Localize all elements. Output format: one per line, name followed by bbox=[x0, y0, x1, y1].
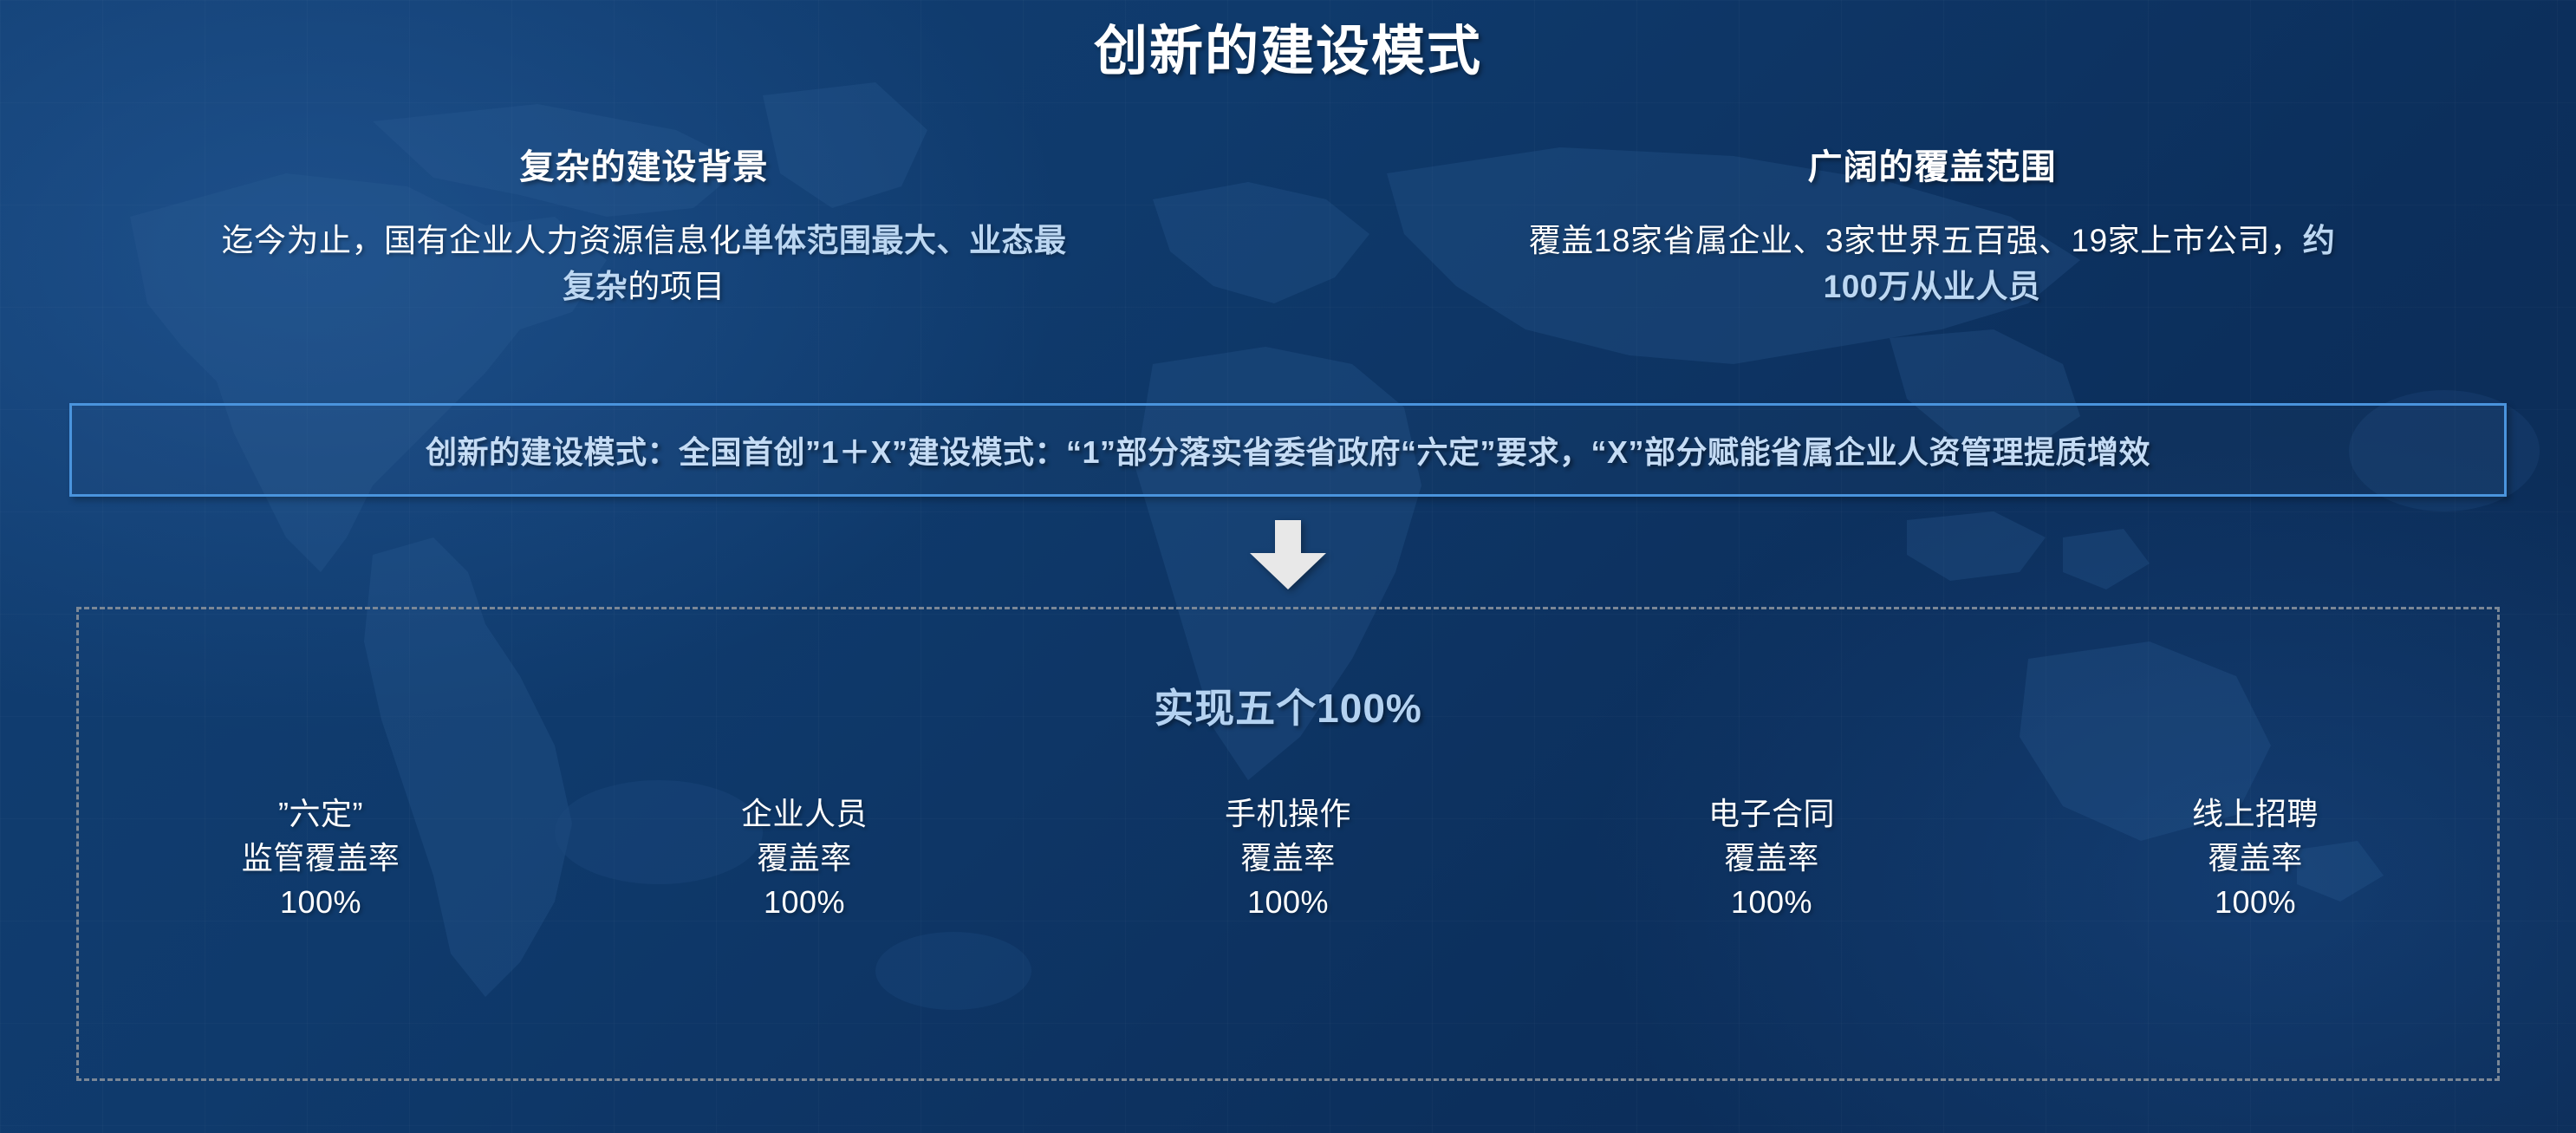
metric-value: 100% bbox=[1046, 880, 1530, 924]
left-body-highlight-1: 单体范围最大、业态最 bbox=[742, 223, 1067, 258]
page-title: 创新的建设模式 bbox=[0, 7, 2576, 85]
right-body-highlight-2: 100万从业人员 bbox=[1824, 269, 2041, 304]
metric-line2: 覆盖率 bbox=[1530, 836, 2013, 880]
results-panel: 实现五个100% ”六定” 监管覆盖率 100% 企业人员 覆盖率 100% 手… bbox=[76, 607, 2500, 1081]
metric-line2: 监管覆盖率 bbox=[79, 836, 563, 880]
intro-columns: 复杂的建设背景 迄今为止，国有企业人力资源信息化单体范围最大、业态最 复杂的项目… bbox=[0, 139, 2576, 309]
column-heading-left: 复杂的建设背景 bbox=[52, 139, 1236, 189]
column-body-right: 覆盖18家省属企业、3家世界五百强、19家上市公司，约 100万从业人员 bbox=[1340, 218, 2524, 309]
metric-line2: 覆盖率 bbox=[1046, 836, 1530, 880]
metric-line1: ”六定” bbox=[79, 791, 563, 836]
left-body-plain-2: 的项目 bbox=[628, 269, 725, 304]
metric-line2: 覆盖率 bbox=[2013, 836, 2497, 880]
metric-item: 线上招聘 覆盖率 100% bbox=[2013, 791, 2497, 924]
column-construction-background: 复杂的建设背景 迄今为止，国有企业人力资源信息化单体范围最大、业态最 复杂的项目 bbox=[0, 139, 1288, 309]
column-body-left: 迄今为止，国有企业人力资源信息化单体范围最大、业态最 复杂的项目 bbox=[52, 218, 1236, 309]
metric-line2: 覆盖率 bbox=[563, 836, 1046, 880]
metrics-row: ”六定” 监管覆盖率 100% 企业人员 覆盖率 100% 手机操作 覆盖率 1… bbox=[79, 791, 2497, 924]
metric-line1: 线上招聘 bbox=[2013, 791, 2497, 836]
metric-line1: 企业人员 bbox=[563, 791, 1046, 836]
metric-value: 100% bbox=[1530, 880, 2013, 924]
innovation-model-banner: 创新的建设模式：全国首创”1＋X”建设模式：“1”部分落实省委省政府“六定”要求… bbox=[69, 403, 2507, 497]
metric-line1: 电子合同 bbox=[1530, 791, 2013, 836]
results-panel-heading: 实现五个100% bbox=[79, 677, 2497, 734]
metric-item: 电子合同 覆盖率 100% bbox=[1530, 791, 2013, 924]
right-body-plain-1: 覆盖18家省属企业、3家世界五百强、19家上市公司， bbox=[1529, 223, 2303, 258]
down-arrow-icon bbox=[1246, 520, 1330, 589]
left-body-plain-1: 迄今为止，国有企业人力资源信息化 bbox=[222, 223, 742, 258]
metric-value: 100% bbox=[563, 880, 1046, 924]
column-coverage-scope: 广阔的覆盖范围 覆盖18家省属企业、3家世界五百强、19家上市公司，约 100万… bbox=[1288, 139, 2576, 309]
left-body-highlight-2: 复杂 bbox=[563, 269, 628, 304]
column-heading-right: 广阔的覆盖范围 bbox=[1340, 139, 2524, 189]
slide-canvas: 创新的建设模式 复杂的建设背景 迄今为止，国有企业人力资源信息化单体范围最大、业… bbox=[0, 0, 2576, 1133]
metric-line1: 手机操作 bbox=[1046, 791, 1530, 836]
metric-item: 企业人员 覆盖率 100% bbox=[563, 791, 1046, 924]
right-body-highlight-1: 约 bbox=[2303, 223, 2336, 258]
metric-value: 100% bbox=[2013, 880, 2497, 924]
banner-text: 创新的建设模式：全国首创”1＋X”建设模式：“1”部分落实省委省政府“六定”要求… bbox=[426, 427, 2150, 472]
metric-item: 手机操作 覆盖率 100% bbox=[1046, 791, 1530, 924]
flow-arrow bbox=[0, 520, 2576, 589]
metric-value: 100% bbox=[79, 880, 563, 924]
metric-item: ”六定” 监管覆盖率 100% bbox=[79, 791, 563, 924]
